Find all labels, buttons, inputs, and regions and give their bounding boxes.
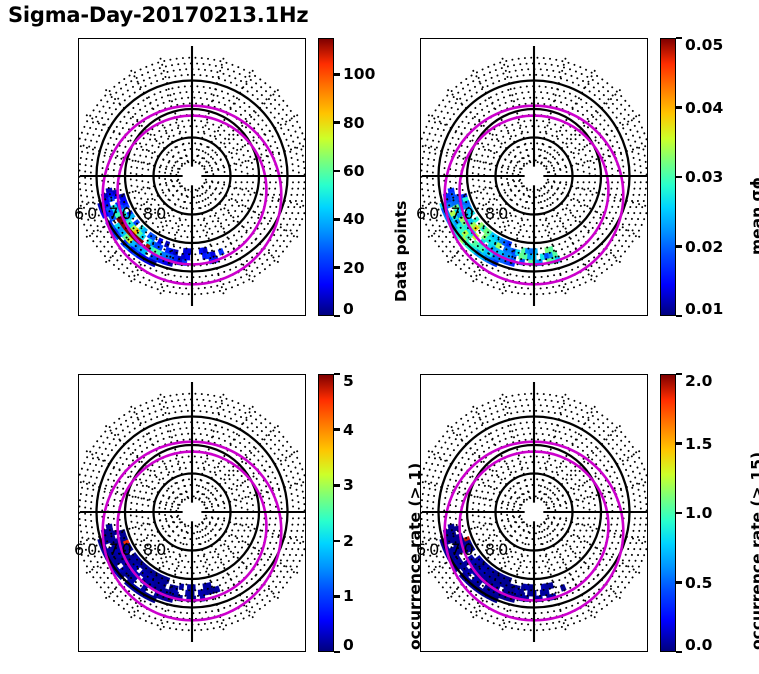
panel-data-points[interactable]: 60 70 80: [78, 38, 306, 316]
colorbar-occurrence-rate-015[interactable]: [660, 374, 676, 652]
latitude-tick-labels: 60 70 80: [74, 540, 169, 559]
colorbar-tick-mark: [676, 106, 682, 109]
colorbar-tick-mark: [334, 170, 340, 173]
colorbar-tick-mark: [334, 373, 340, 376]
colorbar-tick-mark: [676, 315, 682, 318]
colorbar-tick-label: 20: [343, 259, 365, 277]
colorbar-tick-mark: [676, 651, 682, 654]
colorbar-tick-label: 4: [343, 421, 354, 439]
panel-mean-sigma-phi[interactable]: 60 70 80: [420, 38, 648, 316]
colorbar-tick-mark: [676, 512, 682, 515]
colorbar-tick-mark: [334, 484, 340, 487]
colorbar-tick-mark: [334, 540, 340, 543]
colorbar-tick-mark: [334, 315, 340, 318]
colorbar-occurrence-rate-01[interactable]: [318, 374, 334, 652]
colorbar-tick-label: 60: [343, 162, 365, 180]
colorbar-tick-label: 5: [343, 372, 354, 390]
colorbar-tick-mark: [676, 373, 682, 376]
polar-plot-mean-sigma-phi: [420, 38, 648, 316]
colorbar-tick-mark: [334, 121, 340, 124]
latitude-tick-labels: 60 70 80: [416, 204, 511, 223]
colorbar-tick-mark: [676, 442, 682, 445]
colorbar-tick-mark: [676, 245, 682, 248]
colorbar-ticks-mean-sigma-phi: 0.010.020.030.040.05: [676, 38, 756, 316]
colorbar-tick-mark: [676, 176, 682, 179]
colorbar-tick-label: 80: [343, 114, 365, 132]
colorbar-tick-mark: [676, 581, 682, 584]
colorbar-tick-label: 0: [343, 636, 354, 654]
polar-plot-occurrence-rate-01: [78, 374, 306, 652]
colorbar-tick-mark: [334, 266, 340, 269]
colorbar-title-occurrence-rate-015: occurrence rate (>.15): [748, 452, 759, 650]
colorbar-title-data-points: Data points: [392, 201, 410, 302]
colorbar-tick-label: 100: [343, 65, 375, 83]
colorbar-mean-sigma-phi[interactable]: [660, 38, 676, 316]
latitude-tick-labels: 60 70 80: [416, 540, 511, 559]
colorbar-tick-mark: [334, 73, 340, 76]
colorbar-tick-label: 0: [343, 300, 354, 318]
colorbar-title-mean-sigma-phi: mean σϕ: [748, 177, 759, 255]
colorbar-tick-label: 40: [343, 210, 365, 228]
latitude-tick-labels: 60 70 80: [74, 204, 169, 223]
colorbar-tick-label: 0.0: [685, 636, 712, 654]
panel-occurrence-rate-015[interactable]: 60 70 80: [420, 374, 648, 652]
figure-canvas: Sigma-Day-20170213.1Hz 60 70 80 02040608…: [0, 0, 759, 674]
colorbar-ticks-occurrence-rate-015: 0.00.51.01.52.0: [676, 374, 756, 652]
colorbar-data-points[interactable]: [318, 38, 334, 316]
colorbar-tick-mark: [334, 428, 340, 431]
colorbar-tick-label: 0.02: [685, 238, 723, 256]
colorbar-tick-mark: [334, 595, 340, 598]
colorbar-tick-label: 2.0: [685, 372, 712, 390]
colorbar-tick-label: 0.03: [685, 168, 723, 186]
colorbar-tick-label: 2: [343, 532, 354, 550]
colorbar-tick-label: 0.5: [685, 574, 712, 592]
polar-plot-occurrence-rate-015: [420, 374, 648, 652]
colorbar-ticks-occurrence-rate-01: 012345: [334, 374, 414, 652]
polar-plot-data-points: [78, 38, 306, 316]
colorbar-tick-label: 1.0: [685, 504, 712, 522]
colorbar-tick-label: 0.01: [685, 300, 723, 318]
panel-occurrence-rate-01[interactable]: 60 70 80: [78, 374, 306, 652]
colorbar-tick-label: 0.04: [685, 99, 723, 117]
figure-title: Sigma-Day-20170213.1Hz: [8, 3, 308, 27]
colorbar-tick-mark: [334, 651, 340, 654]
colorbar-tick-mark: [676, 37, 682, 40]
colorbar-tick-label: 1.5: [685, 435, 712, 453]
colorbar-tick-mark: [334, 218, 340, 221]
colorbar-tick-label: 1: [343, 587, 354, 605]
colorbar-tick-label: 3: [343, 476, 354, 494]
colorbar-tick-label: 0.05: [685, 36, 723, 54]
